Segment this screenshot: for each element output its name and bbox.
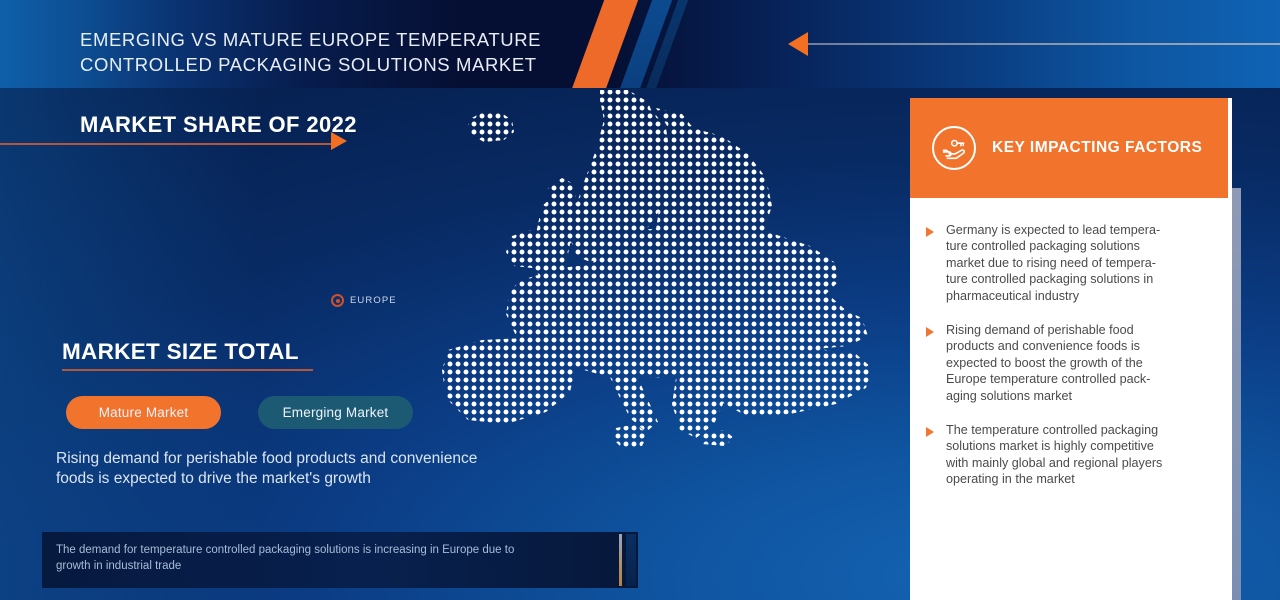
key-factors-list: Germany is expected to lead tempera-ture… <box>926 222 1218 506</box>
key-factor-text: Rising demand of perishable foodproducts… <box>946 322 1150 404</box>
market-size-rule <box>62 369 313 371</box>
legend-pill-emerging[interactable]: Emerging Market <box>258 396 413 429</box>
key-factor-item: The temperature controlled packagingsolu… <box>926 422 1218 488</box>
legend-item-mature-market[interactable]: Mature Market <box>66 396 236 438</box>
key-factor-text-line: operating in the market <box>946 471 1162 487</box>
ring-marker-icon <box>331 294 344 307</box>
header-arrow-line <box>805 43 1280 45</box>
key-factor-text-line: Germany is expected to lead tempera- <box>946 222 1160 238</box>
page-title-line-2: CONTROLLED PACKAGING SOLUTIONS MARKET <box>80 52 600 77</box>
header-bar: EMERGING VS MATURE EUROPE TEMPERATURE CO… <box>0 0 1280 88</box>
footer-text-line-2: growth in industrial trade <box>56 558 616 574</box>
key-factors-header: KEY IMPACTING FACTORS <box>910 98 1228 198</box>
europe-marker-label: EUROPE <box>350 295 397 306</box>
legend-item-emerging-market[interactable]: Emerging Market <box>258 396 433 438</box>
body-copy-line-1: Rising demand for perishable food produc… <box>56 449 596 469</box>
triangle-right-icon <box>926 227 935 237</box>
key-factor-text-line: expected to boost the growth of the <box>946 355 1150 371</box>
triangle-right-icon <box>926 327 935 337</box>
key-factor-text-line: market due to rising need of tempera- <box>946 255 1160 271</box>
infographic-canvas: EMERGING VS MATURE EUROPE TEMPERATURE CO… <box>0 0 1280 600</box>
body-copy-line-2: foods is expected to drive the market's … <box>56 469 596 489</box>
europe-marker: EUROPE <box>331 294 397 307</box>
europe-dotted-map <box>430 88 880 460</box>
market-share-rule <box>0 143 332 145</box>
legend-pill-mature[interactable]: Mature Market <box>66 396 221 429</box>
legend-label-mature: Mature Market <box>99 405 189 420</box>
key-factor-text-line: The temperature controlled packaging <box>946 422 1162 438</box>
key-factor-text-line: solutions market is highly competitive <box>946 438 1162 454</box>
key-factor-text-line: with mainly global and regional players <box>946 455 1162 471</box>
market-size-title: MARKET SIZE TOTAL <box>62 339 299 365</box>
page-title-line-1: EMERGING VS MATURE EUROPE TEMPERATURE <box>80 27 600 52</box>
footer-text: The demand for temperature controlled pa… <box>56 542 616 574</box>
key-factor-text: The temperature controlled packagingsolu… <box>946 422 1162 488</box>
key-factor-text-line: Europe temperature controlled pack- <box>946 371 1150 387</box>
triangle-right-icon <box>926 427 935 437</box>
legend-label-emerging: Emerging Market <box>283 405 389 420</box>
market-share-title: MARKET SHARE OF 2022 <box>80 112 357 138</box>
body-copy: Rising demand for perishable food produc… <box>56 449 596 489</box>
footer-text-line-1: The demand for temperature controlled pa… <box>56 542 616 558</box>
key-factors-panel-shadow <box>1232 188 1241 600</box>
footer-accent-block <box>626 534 636 586</box>
hand-holding-key-icon <box>932 126 976 170</box>
key-factor-text-line: aging solutions market <box>946 388 1150 404</box>
key-factor-text: Germany is expected to lead tempera-ture… <box>946 222 1160 304</box>
page-title: EMERGING VS MATURE EUROPE TEMPERATURE CO… <box>80 27 600 77</box>
key-factor-text-line: ture controlled packaging solutions <box>946 238 1160 254</box>
key-factor-text-line: Rising demand of perishable food <box>946 322 1150 338</box>
key-factor-text-line: products and convenience foods is <box>946 338 1150 354</box>
key-factors-title: KEY IMPACTING FACTORS <box>992 139 1202 157</box>
footer-accent-line <box>619 534 622 586</box>
key-factor-text-line: ture controlled packaging solutions in <box>946 271 1160 287</box>
arrow-right-icon <box>331 132 347 150</box>
key-factor-item: Rising demand of perishable foodproducts… <box>926 322 1218 404</box>
key-factor-text-line: pharmaceutical industry <box>946 288 1160 304</box>
arrow-left-icon <box>788 32 808 56</box>
key-factor-item: Germany is expected to lead tempera-ture… <box>926 222 1218 304</box>
